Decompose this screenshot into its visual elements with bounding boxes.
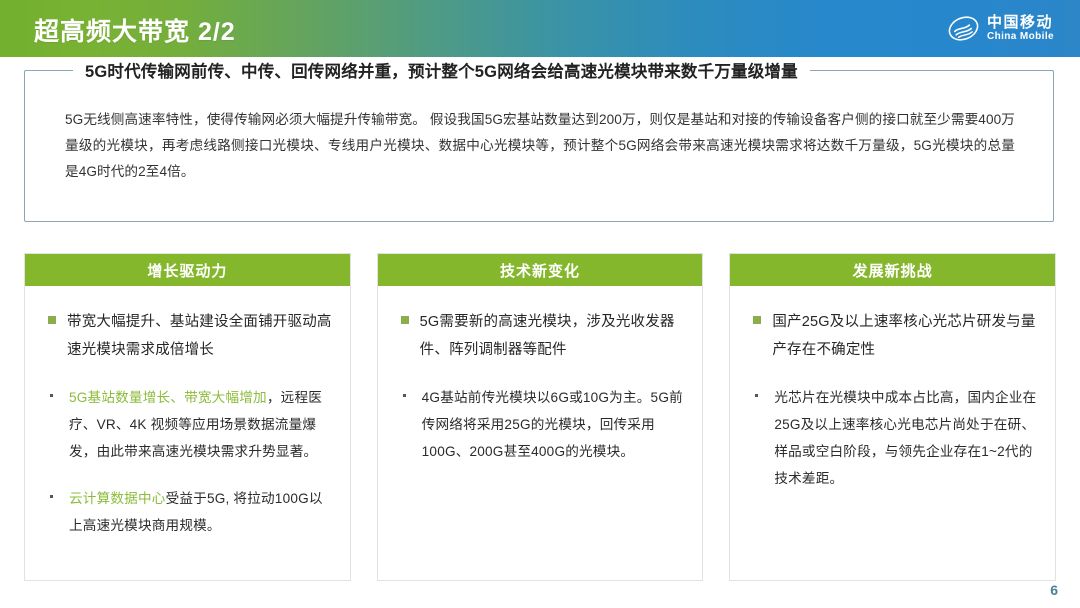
plain-text: 光芯片在光模块中成本占比高，国内企业在25G及以上速率核心光电芯片尚处于在研、样… bbox=[774, 390, 1036, 486]
slide-header: 超高频大带宽 2/2 中国移动 China Mobile bbox=[0, 0, 1080, 57]
brand-logo: 中国移动 China Mobile bbox=[948, 13, 1054, 44]
list-item: 5G需要新的高速光模块，涉及光收发器件、阵列调制器等配件 bbox=[392, 308, 687, 364]
page-title: 超高频大带宽 2/2 bbox=[34, 12, 236, 48]
list-item-text: 光芯片在光模块中成本占比高，国内企业在25G及以上速率核心光电芯片尚处于在研、样… bbox=[774, 384, 1039, 492]
list-item-text: 5G需要新的高速光模块，涉及光收发器件、阵列调制器等配件 bbox=[420, 308, 687, 364]
card-header: 技术新变化 bbox=[378, 254, 703, 286]
summary-body: 5G无线侧高速率特性，使得传输网必须大幅提升传输带宽。 假设我国5G宏基站数量达… bbox=[65, 107, 1015, 185]
dot-bullet-icon bbox=[755, 394, 758, 397]
dot-bullet-icon bbox=[50, 394, 53, 397]
plain-text: 4G基站前传光模块以6G或10G为主。5G前传网络将采用25G的光模块，回传采用… bbox=[422, 390, 683, 459]
china-mobile-logo-icon bbox=[948, 13, 979, 44]
list-item-text: 云计算数据中心受益于5G, 将拉动100G以上高速光模块商用规模。 bbox=[69, 485, 334, 539]
summary-title: 5G时代传输网前传、中传、回传网络并重，预计整个5G网络会给高速光模块带来数千万… bbox=[73, 58, 810, 82]
content-card: 发展新挑战国产25G及以上速率核心光芯片研发与量产存在不确定性光芯片在光模块中成… bbox=[729, 253, 1056, 581]
card-columns: 增长驱动力带宽大幅提升、基站建设全面铺开驱动高速光模块需求成倍增长5G基站数量增… bbox=[24, 253, 1056, 581]
logo-text-cn: 中国移动 bbox=[987, 15, 1054, 30]
square-bullet-icon bbox=[48, 316, 56, 324]
plain-text: 国产25G及以上速率核心光芯片研发与量产存在不确定性 bbox=[772, 314, 1035, 358]
card-title: 增长驱动力 bbox=[147, 260, 227, 281]
list-item: 5G基站数量增长、带宽大幅增加，远程医疗、VR、4K 视频等应用场景数据流量爆发… bbox=[39, 384, 334, 465]
list-item: 带宽大幅提升、基站建设全面铺开驱动高速光模块需求成倍增长 bbox=[39, 308, 334, 364]
plain-text: 5G需要新的高速光模块，涉及光收发器件、阵列调制器等配件 bbox=[420, 314, 675, 358]
card-body: 5G需要新的高速光模块，涉及光收发器件、阵列调制器等配件4G基站前传光模块以6G… bbox=[378, 286, 703, 580]
list-item-text: 5G基站数量增长、带宽大幅增加，远程医疗、VR、4K 视频等应用场景数据流量爆发… bbox=[69, 384, 334, 465]
highlighted-text: 云计算数据中心 bbox=[69, 491, 166, 506]
dot-bullet-icon bbox=[50, 495, 53, 498]
list-item: 光芯片在光模块中成本占比高，国内企业在25G及以上速率核心光电芯片尚处于在研、样… bbox=[744, 384, 1039, 492]
square-bullet-icon bbox=[753, 316, 761, 324]
card-title: 技术新变化 bbox=[500, 260, 580, 281]
list-item-text: 4G基站前传光模块以6G或10G为主。5G前传网络将采用25G的光模块，回传采用… bbox=[422, 384, 687, 465]
plain-text: 带宽大幅提升、基站建设全面铺开驱动高速光模块需求成倍增长 bbox=[67, 314, 332, 358]
content-card: 技术新变化5G需要新的高速光模块，涉及光收发器件、阵列调制器等配件4G基站前传光… bbox=[377, 253, 704, 581]
dot-bullet-icon bbox=[403, 394, 406, 397]
content-card: 增长驱动力带宽大幅提升、基站建设全面铺开驱动高速光模块需求成倍增长5G基站数量增… bbox=[24, 253, 351, 581]
card-body: 国产25G及以上速率核心光芯片研发与量产存在不确定性光芯片在光模块中成本占比高，… bbox=[730, 286, 1055, 580]
list-item-text: 带宽大幅提升、基站建设全面铺开驱动高速光模块需求成倍增长 bbox=[67, 308, 334, 364]
card-body: 带宽大幅提升、基站建设全面铺开驱动高速光模块需求成倍增长5G基站数量增长、带宽大… bbox=[25, 286, 350, 580]
card-header: 增长驱动力 bbox=[25, 254, 350, 286]
list-item: 云计算数据中心受益于5G, 将拉动100G以上高速光模块商用规模。 bbox=[39, 485, 334, 539]
card-header: 发展新挑战 bbox=[730, 254, 1055, 286]
logo-text-en: China Mobile bbox=[987, 32, 1054, 42]
list-item: 4G基站前传光模块以6G或10G为主。5G前传网络将采用25G的光模块，回传采用… bbox=[392, 384, 687, 465]
summary-box: 5G时代传输网前传、中传、回传网络并重，预计整个5G网络会给高速光模块带来数千万… bbox=[24, 70, 1054, 222]
highlighted-text: 5G基站数量增长、带宽大幅增加 bbox=[69, 390, 267, 405]
square-bullet-icon bbox=[401, 316, 409, 324]
list-item-text: 国产25G及以上速率核心光芯片研发与量产存在不确定性 bbox=[772, 308, 1039, 364]
page-number: 6 bbox=[1050, 582, 1058, 598]
list-item: 国产25G及以上速率核心光芯片研发与量产存在不确定性 bbox=[744, 308, 1039, 364]
card-title: 发展新挑战 bbox=[853, 260, 933, 281]
